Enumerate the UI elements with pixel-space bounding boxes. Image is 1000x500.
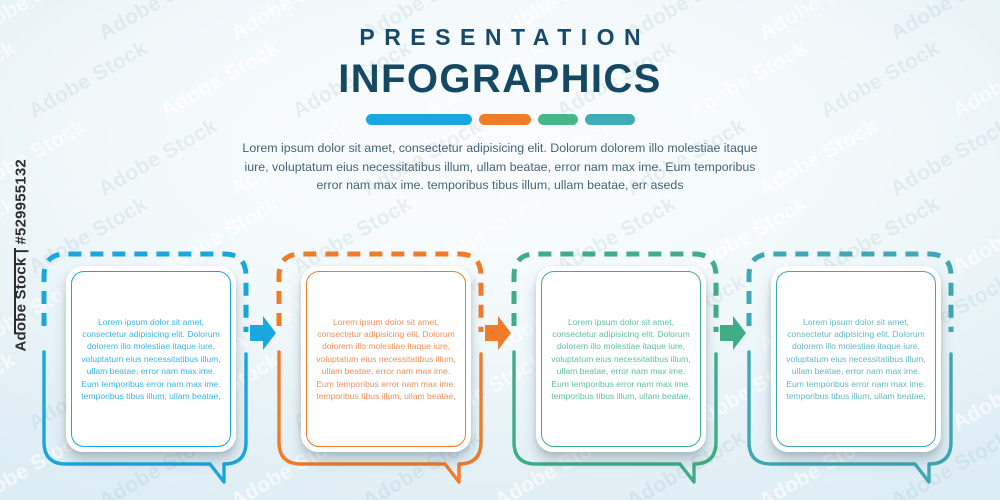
- card-body-text: Lorem ipsum dolor sit amet, consectetur …: [784, 316, 928, 403]
- card-body-text: Lorem ipsum dolor sit amet, consectetur …: [314, 316, 458, 403]
- bar-orange: [479, 114, 531, 125]
- bar-blue: [366, 114, 472, 125]
- arrow-glyph: [485, 316, 511, 350]
- bar-green: [538, 114, 578, 125]
- bar-teal: [585, 114, 635, 125]
- subtitle-text: Lorem ipsum dolor sit amet, consectetur …: [235, 139, 765, 195]
- card-body-text: Lorem ipsum dolor sit amet, consectetur …: [79, 316, 223, 403]
- cards-row: Lorem ipsum dolor sit amet, consectetur …: [0, 248, 1000, 500]
- info-card-2[interactable]: Lorem ipsum dolor sit amet, consectetur …: [273, 248, 501, 488]
- header: PRESENTATION INFOGRAPHICS Lorem ipsum do…: [0, 0, 1000, 195]
- arrow-glyph: [250, 316, 276, 350]
- info-card-4[interactable]: Lorem ipsum dolor sit amet, consectetur …: [743, 248, 971, 488]
- card-panel[interactable]: Lorem ipsum dolor sit amet, consectetur …: [541, 271, 701, 447]
- arrow-1: [250, 316, 276, 350]
- arrow-shape: [485, 316, 511, 350]
- stock-credit-sidebar: Adobe Stock | #529955132: [0, 0, 38, 500]
- card-panel[interactable]: Lorem ipsum dolor sit amet, consectetur …: [71, 271, 231, 447]
- card-panel[interactable]: Lorem ipsum dolor sit amet, consectetur …: [306, 271, 466, 447]
- infographic-canvas: Adobe StockAdobe StockAdobe StockAdobe S…: [0, 0, 1000, 500]
- arrow-2: [485, 316, 511, 350]
- page-title: INFOGRAPHICS: [0, 57, 1000, 102]
- arrow-3: [720, 316, 746, 350]
- info-card-3[interactable]: Lorem ipsum dolor sit amet, consectetur …: [508, 248, 736, 488]
- stock-credit-text: Adobe Stock | #529955132: [13, 102, 30, 352]
- arrow-glyph: [720, 316, 746, 350]
- arrow-shape: [250, 316, 276, 350]
- accent-bars: [0, 114, 1000, 125]
- card-body-text: Lorem ipsum dolor sit amet, consectetur …: [549, 316, 693, 403]
- title-eyebrow: PRESENTATION: [0, 24, 1000, 51]
- card-panel[interactable]: Lorem ipsum dolor sit amet, consectetur …: [776, 271, 936, 447]
- arrow-shape: [720, 316, 746, 350]
- info-card-1[interactable]: Lorem ipsum dolor sit amet, consectetur …: [38, 248, 266, 488]
